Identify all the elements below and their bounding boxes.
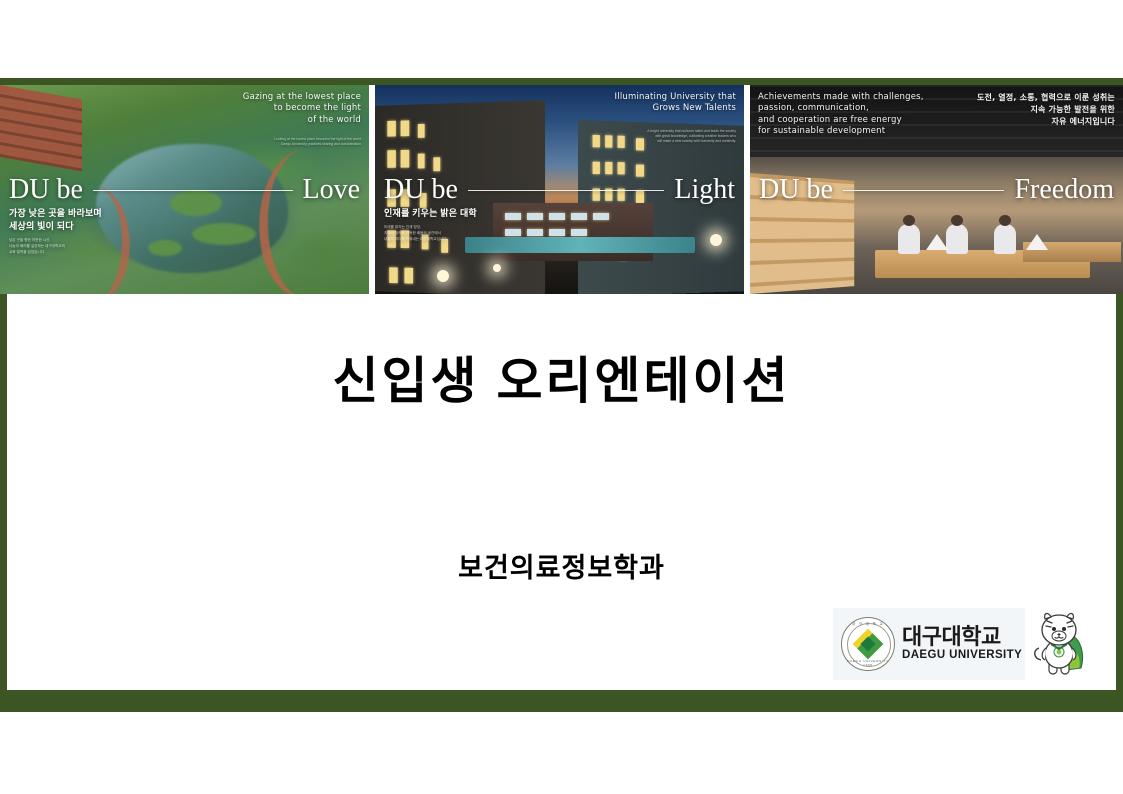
banner-image-strip: Gazing at the lowest place to become the… xyxy=(0,85,1123,294)
panel-wordmark: DU be Freedom xyxy=(750,173,1123,207)
logo-name-en: DAEGU UNIVERSITY xyxy=(902,649,1022,663)
wordmark-keyword: Love xyxy=(303,176,370,204)
wordmark-keyword: Freedom xyxy=(1014,176,1123,204)
banner-panel-freedom: Achievements made with challenges, passi… xyxy=(750,85,1123,294)
page-title: 신입생 오리엔테이션 xyxy=(7,354,1116,409)
presentation-slide: Gazing at the lowest place to become the… xyxy=(0,0,1123,794)
wordmark-rule xyxy=(468,190,664,191)
street-lamp-glow xyxy=(493,264,501,272)
logo-card: 대 구 대 학 교 DAEGU UNIVERSITY 1956 대구대학교 DA… xyxy=(833,608,1025,680)
panel-tagline-en: Illuminating University that Grows New T… xyxy=(615,92,736,115)
panel-korean-block: 가장 낮은 곳을 바라보며 세상의 빛이 되다 낮은 곳을 향한 따뜻한 시선,… xyxy=(9,207,102,255)
red-brick-building-shape xyxy=(0,85,82,171)
page-subtitle: 보건의료정보학과 xyxy=(7,546,1116,585)
lake-island-shape xyxy=(192,223,256,245)
university-logo-lockup: 대 구 대 학 교 DAEGU UNIVERSITY 1956 대구대학교 DA… xyxy=(833,608,1108,680)
banner-panel-love: Gazing at the lowest place to become the… xyxy=(0,85,369,294)
table-lamp xyxy=(1026,234,1048,250)
panel-fineprint-en: A bright university that nurtures talent… xyxy=(647,129,736,144)
frame-border-bottom xyxy=(0,690,1123,712)
panel-tagline-en: Achievements made with challenges, passi… xyxy=(758,92,924,138)
panel-wordmark: DU be Light xyxy=(375,173,744,207)
frame-border-top xyxy=(0,78,1123,85)
wordmark-keyword: Light xyxy=(674,176,744,204)
emblem-seal-text-kr: 대 구 대 학 교 xyxy=(842,621,894,626)
panel-tagline-kr: 도전, 열정, 소통, 협력으로 이룬 성취는 지속 가능한 발전을 위한 자유… xyxy=(977,92,1115,128)
wordmark-rule xyxy=(93,190,293,191)
wordmark-du-be: DU be xyxy=(375,176,458,204)
panel-subtext-kr: 미래를 밝히는 인재 양성, 지혜와 창의로 가득한 배움의 공간에서 내일의 … xyxy=(384,224,477,242)
street-lamp-glow xyxy=(437,270,449,282)
seated-student xyxy=(898,224,920,254)
walking-path-shape xyxy=(248,142,367,294)
lake-island-shape xyxy=(148,240,182,256)
logo-name-kr: 대구대학교 xyxy=(902,625,1022,648)
panel-fineprint-en: Looking at the lowest place becomes the … xyxy=(274,137,361,147)
seated-student xyxy=(946,224,968,254)
panel-wordmark: DU be Love xyxy=(0,173,369,207)
panel-headline-kr: 가장 낮은 곳을 바라보며 세상의 빛이 되다 xyxy=(9,207,102,233)
wordmark-du-be: DU be xyxy=(0,176,83,204)
banner-panel-light: Illuminating University that Grows New T… xyxy=(375,85,744,294)
wordmark-rule xyxy=(843,190,1005,191)
university-emblem-icon: 대 구 대 학 교 DAEGU UNIVERSITY 1956 xyxy=(841,617,895,671)
street-lamp-glow xyxy=(710,234,722,246)
panel-tagline-en: Gazing at the lowest place to become the… xyxy=(243,92,361,126)
panel-headline-kr: 인재를 키우는 밝은 대학 xyxy=(384,207,477,220)
seated-student xyxy=(994,224,1016,254)
panel-subtext-kr: 낮은 곳을 향한 따뜻한 시선, 나눔과 배려를 실천하는 대구대학교의 교육 … xyxy=(9,237,102,255)
white-tiger-mascot-icon xyxy=(1025,608,1099,680)
logo-wordmark: 대구대학교 DAEGU UNIVERSITY xyxy=(902,625,1022,663)
wordmark-du-be: DU be xyxy=(750,176,833,204)
sky-bridge-shape xyxy=(465,237,695,253)
emblem-seal-text-en: DAEGU UNIVERSITY 1956 xyxy=(842,659,894,667)
table-lamp xyxy=(926,234,948,250)
panel-korean-block: 인재를 키우는 밝은 대학 미래를 밝히는 인재 양성, 지혜와 창의로 가득한… xyxy=(384,207,477,242)
